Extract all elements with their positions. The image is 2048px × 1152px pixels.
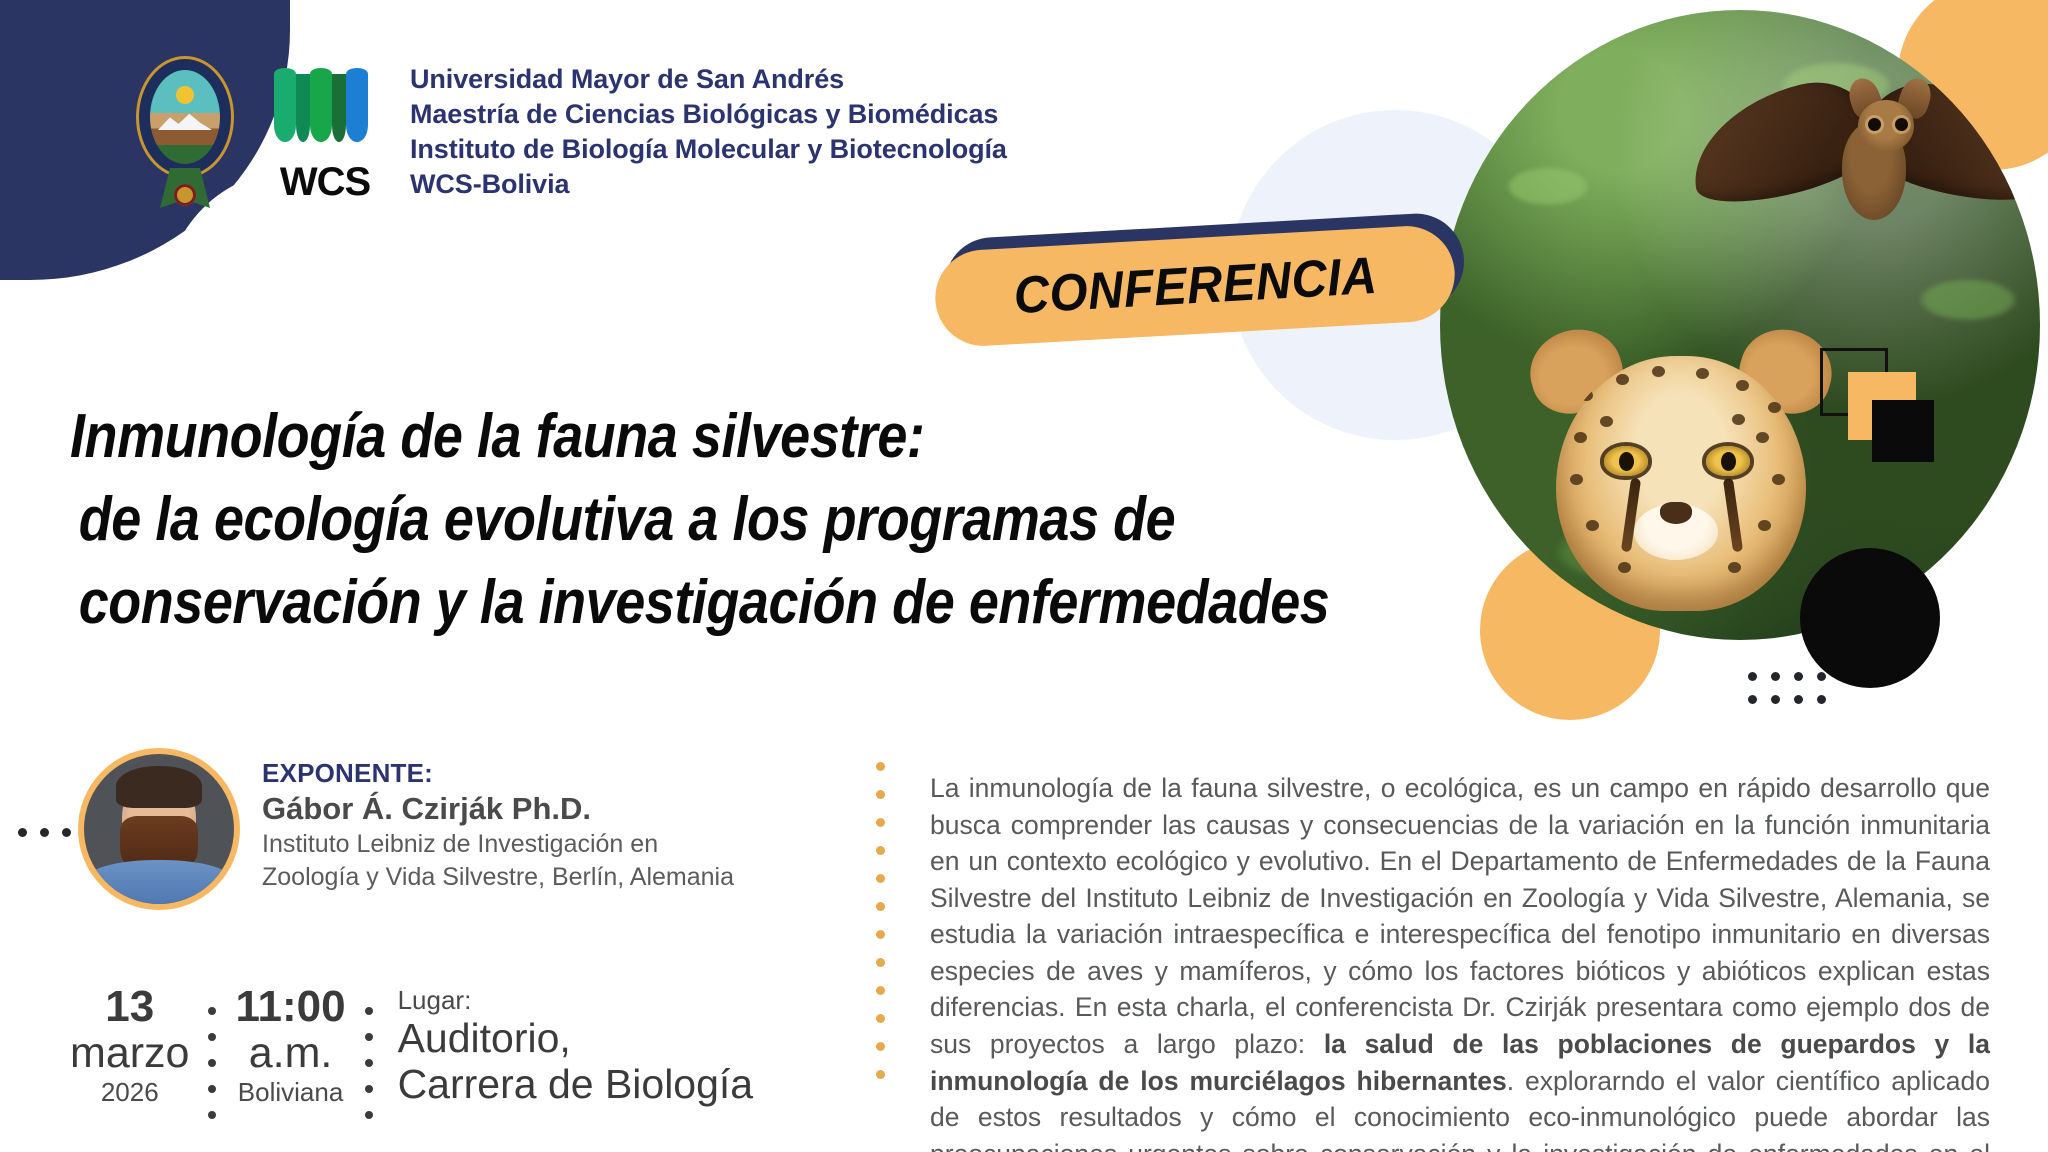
event-year: 2026 (70, 1077, 189, 1108)
abstract-part-1: La inmunología de la fauna silvestre, o … (930, 773, 1990, 1059)
speaker-block: EXPONENTE: Gábor Á. Czirják Ph.D. Instit… (78, 748, 734, 910)
org-line-3: Instituto de Biología Molecular y Biotec… (410, 132, 1007, 167)
event-time: 11:00 a.m. Boliviana (235, 985, 345, 1108)
black-circle-decor (1800, 548, 1940, 688)
place-line-2: Carrera de Biología (398, 1062, 754, 1108)
event-timezone: Boliviana (235, 1077, 345, 1108)
abstract-paragraph: La inmunología de la fauna silvestre, o … (930, 770, 1990, 1152)
event-details: 13 marzo 2026 11:00 a.m. Boliviana Lugar… (70, 985, 753, 1108)
square-black-decor (1872, 400, 1934, 462)
event-meridiem: a.m. (235, 1030, 345, 1077)
place-line-1: Auditorio, (398, 1016, 754, 1062)
event-date: 13 marzo 2026 (70, 985, 189, 1108)
speaker-details: EXPONENTE: Gábor Á. Czirják Ph.D. Instit… (262, 748, 734, 892)
page-title: Inmunología de la fauna silvestre: de la… (70, 395, 1490, 644)
event-place: Lugar: Auditorio, Carrera de Biología (392, 985, 754, 1108)
title-line-2: de la ecología evolutiva a los programas… (70, 478, 1305, 561)
cheetah-eye-right (1706, 446, 1750, 476)
speaker-avatar (78, 748, 240, 910)
bat-eye-right (1895, 118, 1908, 131)
org-line-2: Maestría de Ciencias Biológicas y Bioméd… (410, 97, 1007, 132)
dot-separator-2 (356, 985, 382, 1108)
title-line-3: conservación y la investigación de enfer… (70, 561, 1305, 644)
cheetah-nose (1660, 502, 1692, 524)
badge-label: CONFERENCIA (1012, 246, 1378, 326)
cheetah-spots (1556, 354, 1806, 604)
wcs-logo: WCS (266, 56, 384, 208)
title-line-1: Inmunología de la fauna silvestre: (70, 395, 1305, 478)
event-hour: 11:00 (235, 985, 345, 1030)
bat-illustration (1690, 70, 2020, 270)
conference-poster: WCS Universidad Mayor de San Andrés Maes… (0, 0, 2048, 1152)
speaker-name: Gábor Á. Czirják Ph.D. (262, 791, 734, 827)
dot-separator-1 (199, 985, 225, 1108)
bat-eye-left (1868, 118, 1881, 131)
speaker-label: EXPONENTE: (262, 758, 734, 789)
event-month: marzo (70, 1030, 189, 1077)
place-label: Lugar: (398, 985, 754, 1016)
wcs-w-mark (266, 64, 384, 160)
speaker-affiliation-line-2: Zoología y Vida Silvestre, Berlín, Alema… (262, 862, 734, 893)
org-line-4: WCS-Bolivia (410, 167, 1007, 202)
organization-lines: Universidad Mayor de San Andrés Maestría… (410, 62, 1007, 202)
speaker-affiliation-line-1: Instituto Leibniz de Investigación en (262, 829, 734, 860)
jungle-cheetah-bat-photo (1440, 10, 2040, 640)
cheetah-eye-left (1604, 446, 1648, 476)
org-line-1: Universidad Mayor de San Andrés (410, 62, 1007, 97)
event-day: 13 (70, 985, 189, 1030)
cheetah-illustration (1518, 296, 1848, 640)
umsa-seal-logo (130, 56, 240, 208)
wcs-wordmark: WCS (266, 162, 384, 202)
poster-header: WCS Universidad Mayor de San Andrés Maes… (130, 56, 1007, 208)
